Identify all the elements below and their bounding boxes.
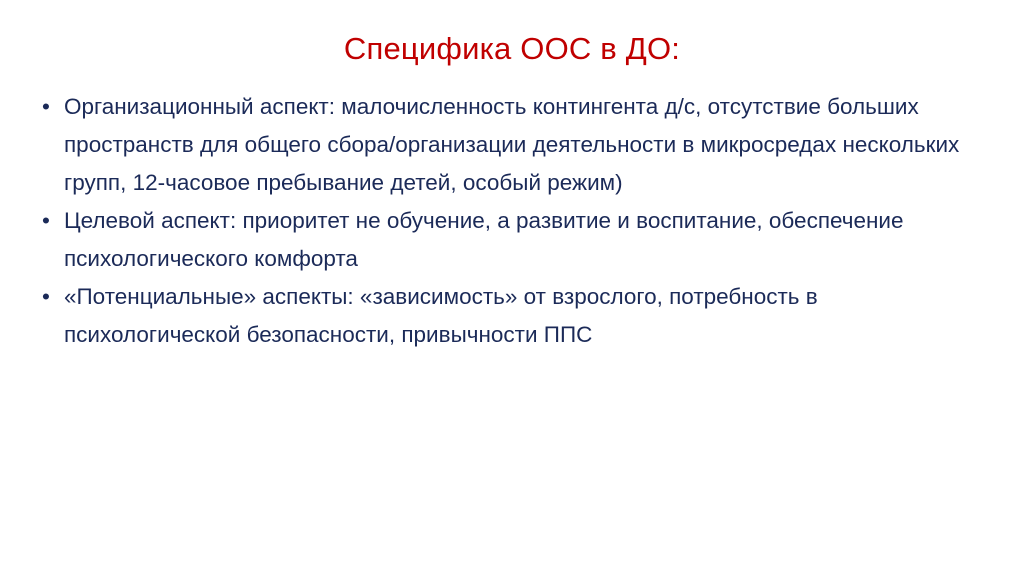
list-item: • Целевой аспект: приоритет не обучение,… (38, 202, 988, 278)
bullet-point-icon: • (42, 88, 60, 126)
list-item-text: «Потенциальные» аспекты: «зависимость» о… (64, 278, 988, 354)
bullet-point-icon: • (42, 202, 60, 240)
slide-canvas: Специфика ООС в ДО: • Организационный ас… (0, 0, 1024, 574)
bullet-point-icon: • (42, 278, 60, 316)
list-item: • Организационный аспект: малочисленност… (38, 88, 988, 202)
list-item-text: Организационный аспект: малочисленность … (64, 88, 988, 202)
list-item-text: Целевой аспект: приоритет не обучение, а… (64, 202, 988, 278)
list-item: • «Потенциальные» аспекты: «зависимость»… (38, 278, 988, 354)
bullet-list: • Организационный аспект: малочисленност… (38, 88, 988, 354)
page-title: Специфика ООС в ДО: (0, 30, 1024, 68)
